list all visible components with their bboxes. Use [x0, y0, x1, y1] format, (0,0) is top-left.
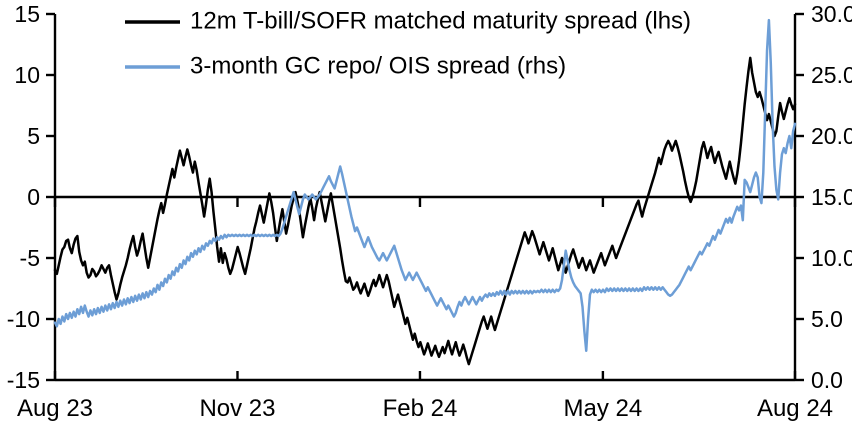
- right-axis-tick-label: 0.0: [811, 367, 843, 393]
- left-axis-tick-label: 5: [27, 123, 40, 149]
- left-axis-tick-label: -10: [7, 306, 40, 332]
- left-axis-tick-label: 15: [14, 1, 40, 27]
- legend-label: 12m T-bill/SOFR matched maturity spread …: [190, 7, 691, 34]
- chart-container: 151050-5-10-15 30.025.020.015.010.05.00.…: [0, 0, 852, 432]
- left-axis-tick-label: -5: [20, 245, 40, 271]
- right-axis-tick-label: 10.0: [811, 245, 852, 271]
- right-axis-tick-label: 30.0: [811, 1, 852, 27]
- line-chart: 151050-5-10-15 30.025.020.015.010.05.00.…: [0, 0, 852, 432]
- left-axis-tick-label: 10: [14, 62, 40, 88]
- x-axis-tick-label: Aug 23: [17, 395, 93, 422]
- right-axis-tick-label: 20.0: [811, 123, 852, 149]
- legend-label: 3-month GC repo/ OIS spread (rhs): [190, 52, 566, 79]
- x-axis-tick-label: Aug 24: [757, 395, 833, 422]
- right-axis-tick-label: 5.0: [811, 306, 843, 332]
- x-axis-tick-label: May 24: [564, 395, 643, 422]
- right-axis-tick-label: 15.0: [811, 184, 852, 210]
- x-axis-tick-label: Nov 23: [199, 395, 275, 422]
- x-axis-tick-label: Feb 24: [383, 395, 458, 422]
- left-axis-tick-label: 0: [27, 184, 40, 210]
- right-axis-tick-label: 25.0: [811, 62, 852, 88]
- left-axis-tick-label: -15: [7, 367, 40, 393]
